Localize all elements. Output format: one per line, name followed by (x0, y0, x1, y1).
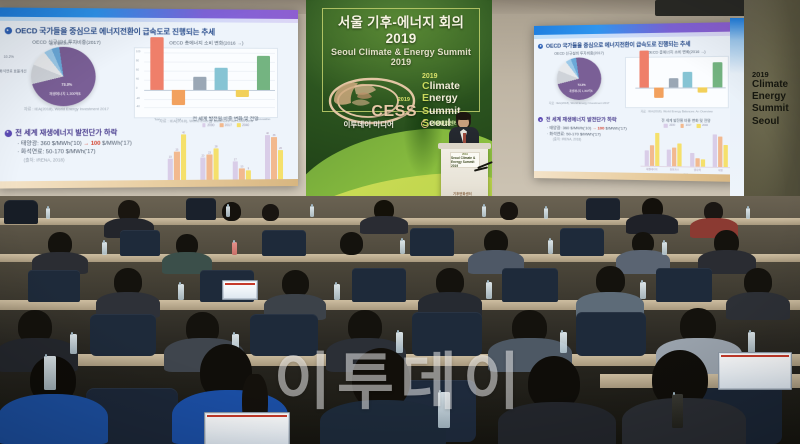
auditorium-floor (0, 196, 800, 444)
pie-right-main-value: 73.3% (578, 83, 586, 87)
chart-pie-investment: OECD 신규설비 투자비중(2017) 73.3% 재생에너지 1,300억$… (5, 38, 128, 124)
fg-shoulder-1 (0, 394, 108, 444)
bullet-arrow-icon-right-2 (538, 117, 543, 122)
sponsor-media-label: 이투데이 미디어 (344, 119, 394, 130)
water-bottle-c2 (334, 284, 340, 300)
pie-chart-graphic: 73.3% 재생에너지 1,300억$ 원자력 4.2% 10.2% 화석연료 … (31, 47, 96, 106)
word-stack-year: 2019 (422, 73, 474, 80)
side-banner-summit: Summit (752, 103, 789, 115)
laptop-e1-screen (206, 414, 288, 444)
laptop-e1 (204, 412, 290, 444)
chart-pie-investment-right: OECD 신규설비 투자비중(2017) 73.3% 재생에너지 1,300억$… (538, 51, 621, 113)
chair-a1 (4, 200, 38, 224)
side-vertical-banner: 2019 Climate Energy Summit Seoul (744, 0, 800, 214)
water-bottle-a6 (746, 208, 750, 219)
water-bottle-a2 (226, 206, 230, 217)
bar1-col-coal: Coal (171, 48, 185, 117)
laptop-c1-screen (224, 282, 256, 298)
water-bottle-a4 (482, 206, 486, 217)
water-bottle-b2 (232, 242, 237, 255)
slide-right-charts-row: OECD 신규설비 투자비중(2017) 73.3% 재생에너지 1,300억$… (538, 49, 733, 113)
side-banner-climate: Climate (752, 79, 789, 91)
slide-content: OECD 국가들을 중심으로 에너지전환이 급속도로 진행되는 추세 OECD … (0, 21, 298, 189)
bar2-group-coal: 40 38 26 석탄 (265, 135, 284, 180)
bar2-right-title: 전 세계 발전원 비중 변화 및 전망 (641, 117, 733, 123)
bar1-col-renewables: Renewables (257, 49, 271, 117)
laptop-e2 (718, 352, 792, 390)
chair-c5 (656, 268, 712, 302)
chair-c4 (502, 268, 558, 302)
water-bottle-e2 (438, 392, 450, 428)
water-bottle-d5 (748, 332, 755, 353)
speaker-hair (456, 112, 471, 120)
slide-title-text: OECD 국가들을 중심으로 에너지전환이 급속도로 진행되는 추세 (15, 25, 215, 37)
pie-chart-source: 자료 : IEA(2018), World Energy Investment … (5, 107, 128, 112)
podium-sign: 2019 Seoul Climate & Energy Summit 2019 (450, 152, 480, 168)
podium-top (438, 143, 491, 149)
audience-shoulder-a6 (626, 214, 678, 234)
chair-c3 (352, 268, 406, 302)
bar1-col-oil: Oil (193, 49, 207, 118)
water-bottle-b4 (548, 240, 553, 254)
water-bottle-a1 (46, 208, 50, 219)
audience-head-a2 (222, 202, 241, 221)
water-bottle-e3 (672, 394, 683, 428)
water-bottle-d3 (396, 332, 403, 353)
bar2-right-plot: 재생에너지 천연가스 원자력 석탄 (641, 129, 733, 167)
fg-shoulder-3 (320, 400, 446, 444)
chart-bar-consumption: OECD 총에너지 소비 변화(2016 →) 100 80 60 40 0 (134, 39, 278, 124)
projection-slide-left: OECD 국가들을 중심으로 에너지전환이 급속도로 진행되는 추세 OECD … (0, 7, 298, 188)
podium-sign-title: Seoul Climate & Energy Summit 2019 (451, 156, 479, 168)
bar1-right-plot (625, 56, 729, 108)
audience-head-c2 (282, 270, 309, 297)
side-banner-seoul: Seoul (752, 116, 789, 128)
side-banner-energy: Energy (752, 91, 789, 103)
banner-title-english: Seoul Climate & Energy Summit 2019 (328, 47, 474, 67)
chart-bar-generation-mix-right: 전 세계 발전원 비중 변화 및 전망 2000 2017 2040 재생에너지… (641, 117, 733, 177)
screenshot-root: 서울 기후-에너지 회의 2019 Seoul Climate & Energy… (0, 0, 800, 444)
bar2-chart-title: 전 세계 발전원 비중 변화 및 전망 (161, 115, 290, 122)
chair-a2 (186, 198, 216, 220)
water-bottle-a5 (544, 208, 548, 219)
water-bottle-c3 (486, 282, 492, 299)
chair-c1 (28, 270, 80, 302)
pie-leader-nuclear: 원자력 4.2% (50, 41, 69, 46)
bar1-col-nuclear: Nuclear (235, 49, 249, 117)
chair-b3 (410, 228, 454, 256)
bar1-bars: Total Coal Oil (146, 48, 274, 117)
water-bottle-a3 (310, 206, 314, 217)
chair-b2 (262, 230, 306, 256)
fg-shoulder-4 (498, 402, 616, 444)
audience-head-a3 (262, 204, 279, 221)
audience-shoulder-c5 (726, 292, 790, 320)
slide-subtitle-2-text: 전 세계 재생에너지 발전단가 하락 (15, 128, 117, 139)
bar2-plot-area: 19 25 40 재생에너지 20 23 28 천연가스 17 10 9 (161, 129, 290, 182)
water-bottle-b1 (102, 242, 107, 255)
bar2-legend-2000: 2000 (202, 123, 214, 127)
bar2-legend-2040: 2040 (237, 123, 249, 127)
slide-right-title-text: OECD 국가들을 중심으로 에너지전환이 급속도로 진행되는 추세 (546, 40, 690, 50)
slide-charts-row: OECD 신규설비 투자비중(2017) 73.3% 재생에너지 1,300억$… (5, 38, 292, 124)
side-banner-words: 2019 Climate Energy Summit Seoul (752, 70, 789, 128)
chart-bar-generation-mix: 전 세계 발전원 비중 변화 및 전망 2000 2017 2040 19 25… (161, 115, 290, 189)
bar1-col-gas: Gas (214, 49, 228, 118)
chair-b4 (560, 228, 604, 256)
bar1-right-source: 자료 : IEA(2018), World Energy Balances: A… (625, 109, 729, 113)
event-banner: 서울 기후-에너지 회의 2019 Seoul Climate & Energy… (322, 8, 480, 112)
bullet-arrow-icon (5, 27, 12, 34)
bar2-group-renewables: 19 25 40 재생에너지 (167, 134, 186, 181)
water-bottle-e1 (44, 356, 56, 390)
crescent-icon (419, 118, 430, 129)
bar1-col-total: Total (150, 48, 164, 117)
bar2-group-gas: 20 23 28 천연가스 (200, 148, 219, 180)
chair-d2 (250, 314, 318, 356)
slide-title: OECD 국가들을 중심으로 에너지전환이 급속도로 진행되는 추세 (5, 25, 292, 38)
word-stack-energy: Energy (422, 92, 474, 104)
bar2-right-legend: 2000 2017 2040 (641, 124, 733, 128)
bar1-plot-area: 100 80 60 40 0 -20 -40 Total (134, 47, 278, 118)
pie-right-sublabel: 재생에너지 1,300억$ (569, 89, 592, 93)
bar2-legend-2017: 2017 (220, 123, 232, 127)
projection-slide-right: OECD 국가들을 중심으로 에너지전환이 급속도로 진행되는 추세 OECD … (534, 22, 738, 182)
audience-head-c4 (596, 266, 625, 295)
chair-d1 (90, 314, 156, 356)
slide-right-title: OECD 국가들을 중심으로 에너지전환이 급속도로 진행되는 추세 (538, 39, 733, 50)
water-bottle-c1 (178, 284, 184, 300)
water-bottle-d4 (560, 332, 567, 353)
laptop-c1 (222, 280, 258, 300)
chair-b1 (120, 230, 160, 256)
word-stack-climate: CClimatelimate (422, 80, 474, 92)
side-banner-year: 2019 (752, 70, 789, 79)
pie-right-area: 73.3% 재생에너지 1,300억$ (538, 57, 621, 100)
bar2-legend: 2000 2017 2040 (161, 123, 290, 127)
water-bottle-b3 (400, 240, 405, 254)
bullet-arrow-icon-2 (5, 129, 12, 136)
audience-shoulder-a4 (360, 216, 408, 234)
water-bottle-b5 (662, 242, 667, 255)
pie-right-title: OECD 신규설비 투자비중(2017) (538, 51, 621, 57)
pie-leader-pct: 10.2% (4, 55, 14, 59)
chart-bar-consumption-right: OECD 총에너지 소비 변화(2016 →) 자료 : IEA(2018), (625, 50, 729, 114)
bar1-right-bars (637, 57, 724, 107)
pie-main-value: 73.3% (61, 82, 72, 86)
bullet-arrow-icon-right (538, 43, 543, 48)
audience-head-b3 (340, 232, 363, 255)
pie-chart-area: 73.3% 재생에너지 1,300억$ 원자력 4.2% 10.2% 화석연료 … (5, 47, 122, 107)
slide-right-subtitle-text: 전 세계 재생에너지 발전단가 하락 (546, 116, 617, 123)
pie-main-sublabel: 재생에너지 1,300억$ (49, 91, 80, 96)
audience-head-a5 (500, 202, 518, 220)
water-bottle-c4 (640, 282, 646, 299)
chair-d4 (576, 312, 646, 356)
pie-right-graphic: 73.3% 재생에너지 1,300억$ (557, 57, 601, 100)
laptop-e2-screen (720, 354, 790, 388)
banner-title-korean: 서울 기후-에너지 회의 2019 (328, 15, 474, 46)
chair-a3 (586, 198, 620, 220)
pie-leader-fossil: 화석연료 효율개선 (0, 69, 27, 74)
fg-shoulder-5 (622, 398, 746, 444)
bar2-group-nuclear: 17 10 9 원자력 (233, 161, 252, 180)
pie-right-source: 자료 : IEA(2018), World Energy Investment … (538, 101, 621, 105)
chair-d3 (412, 312, 482, 356)
slide-right-content: OECD 국가들을 중심으로 에너지전환이 급속도로 진행되는 추세 OECD … (534, 36, 738, 182)
water-bottle-d1 (70, 334, 77, 354)
